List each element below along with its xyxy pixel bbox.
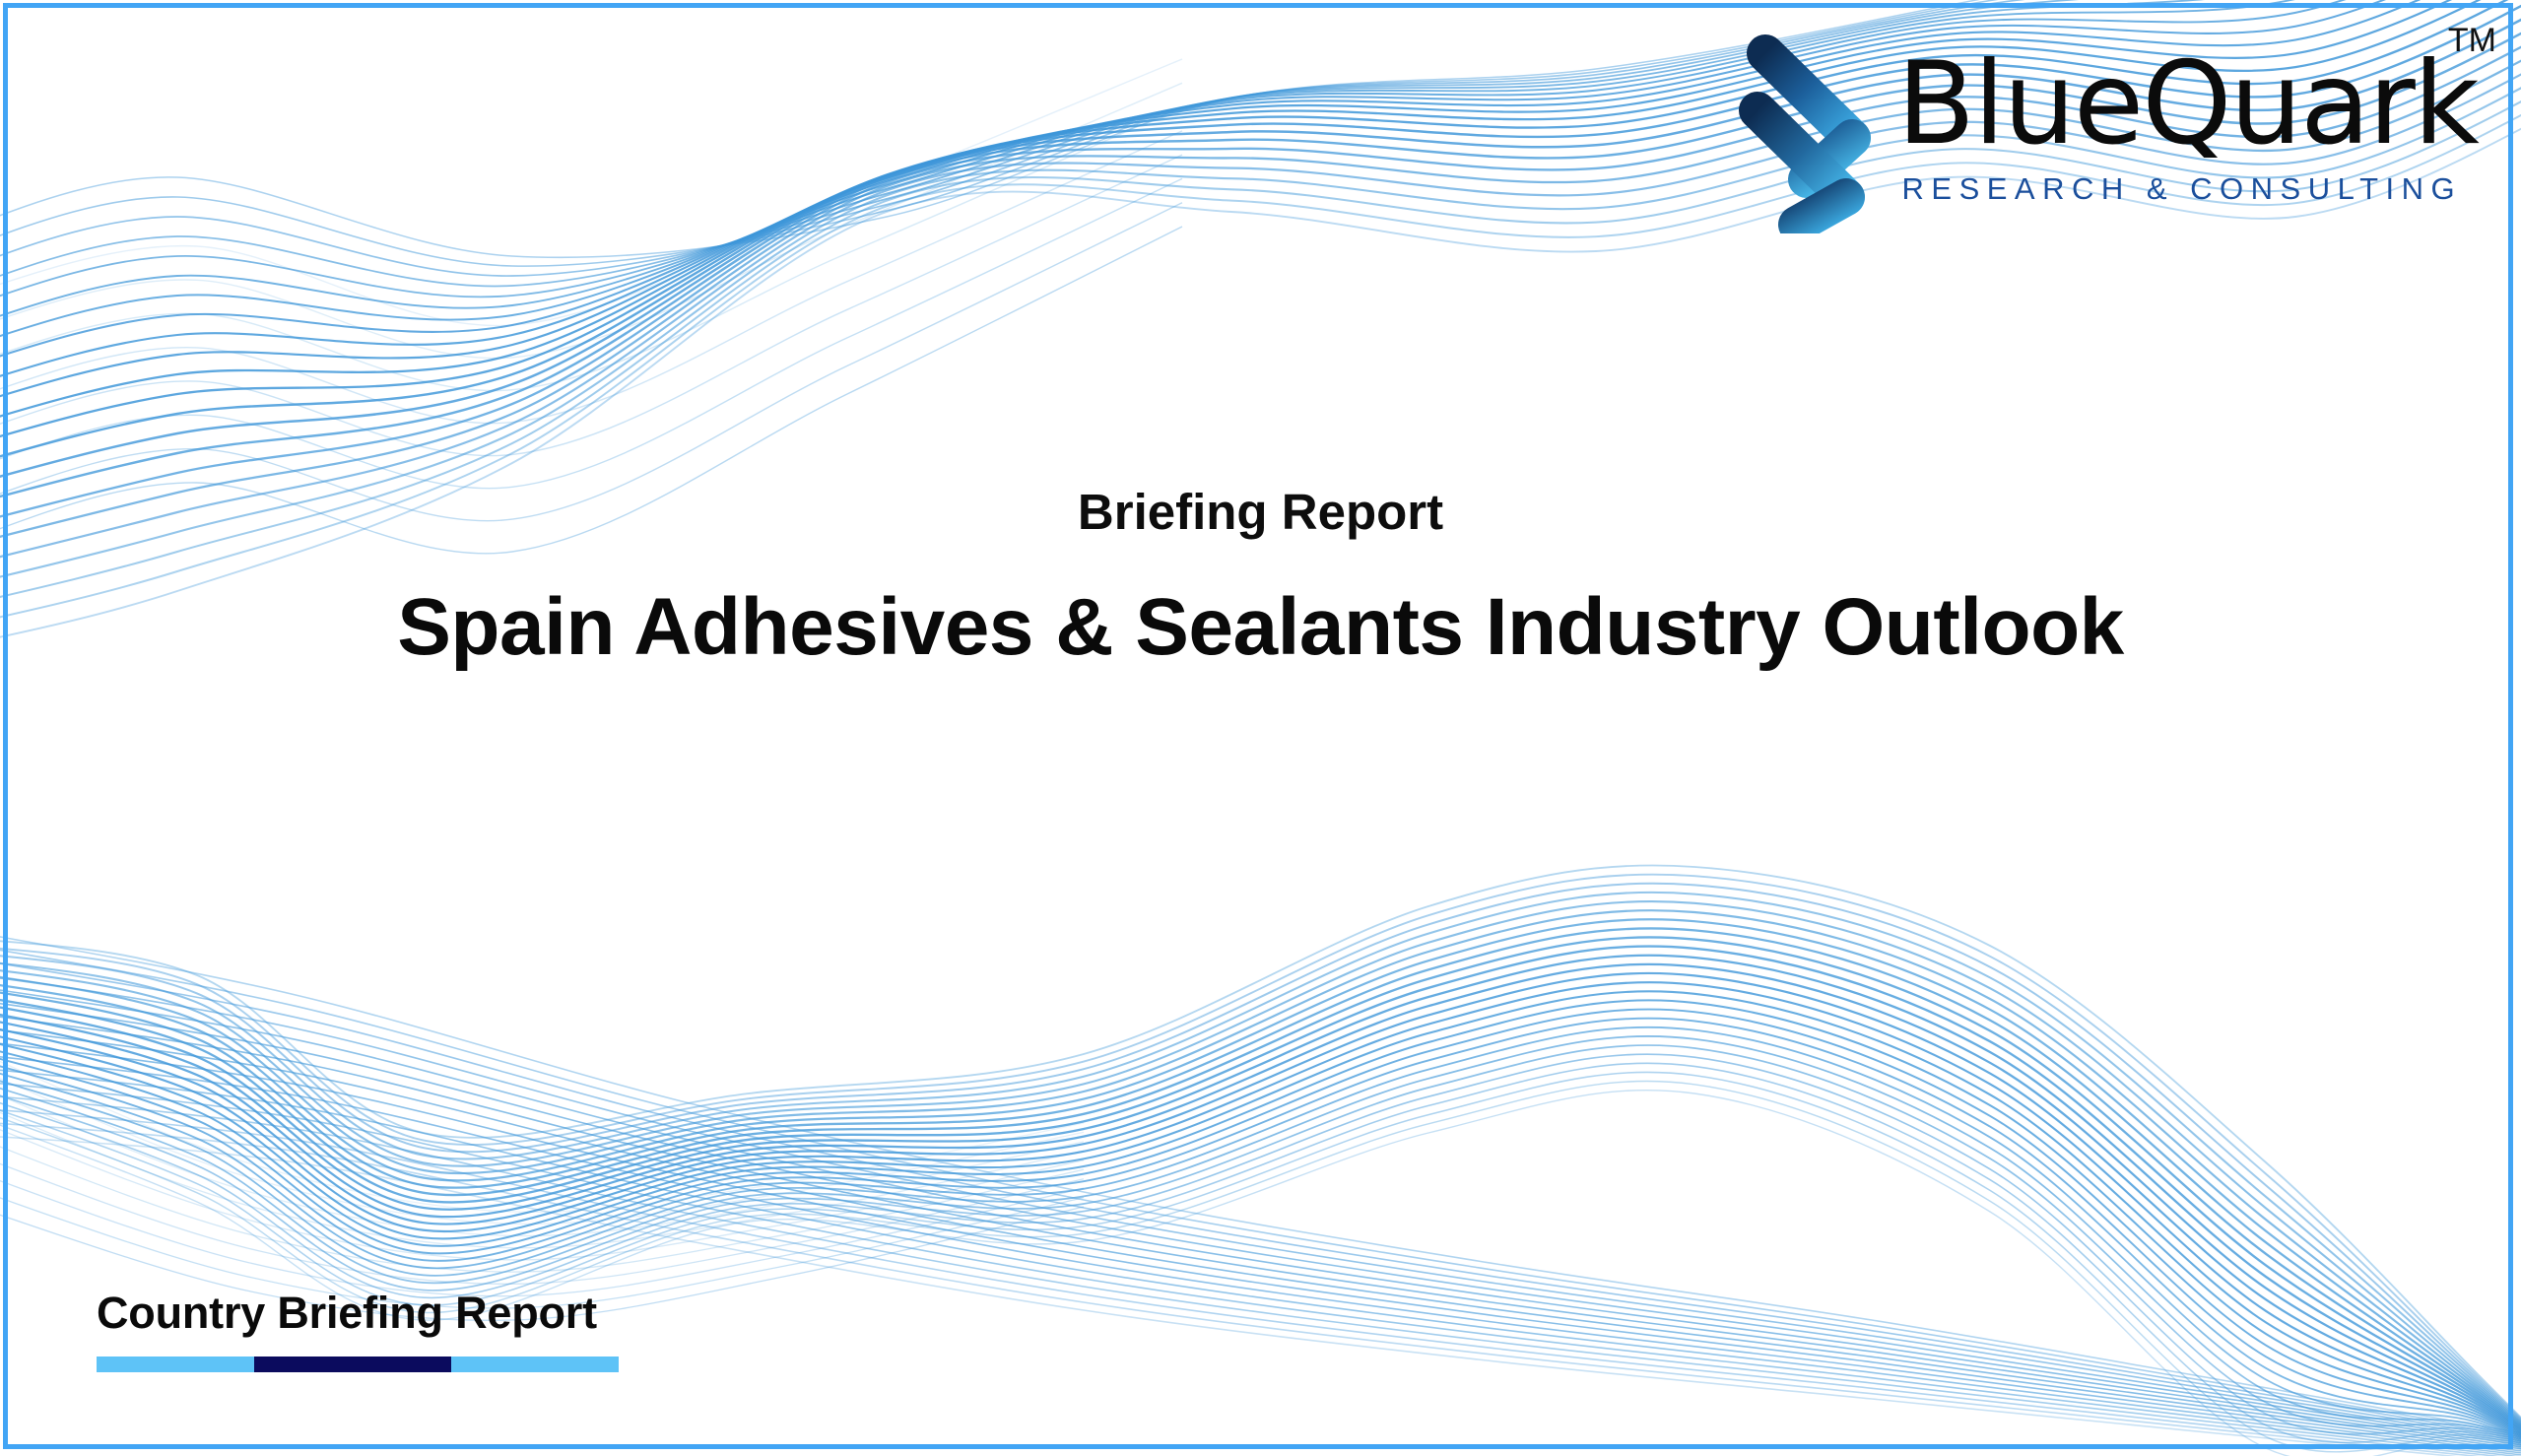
footer-block: Country Briefing Report bbox=[97, 1288, 619, 1372]
brand-wordmark-group: BlueQuark RESEARCH & CONSULTING bbox=[1897, 22, 2478, 207]
page-title: Spain Adhesives & Sealants Industry Outl… bbox=[0, 581, 2521, 674]
brand-wordmark: BlueQuark bbox=[1897, 47, 2478, 162]
report-cover-slide: TM bbox=[0, 0, 2521, 1456]
brand-tagline: RESEARCH & CONSULTING bbox=[1902, 171, 2478, 207]
bluequark-double-chevron-icon bbox=[1736, 32, 1884, 233]
footer-rule-segment-right bbox=[451, 1357, 619, 1372]
footer-rule bbox=[97, 1357, 619, 1372]
footer-label: Country Briefing Report bbox=[97, 1288, 619, 1339]
brand-logo: BlueQuark RESEARCH & CONSULTING bbox=[1736, 22, 2478, 233]
report-kicker: Briefing Report bbox=[0, 483, 2521, 541]
footer-rule-segment-left bbox=[97, 1357, 254, 1372]
footer-rule-segment-middle bbox=[254, 1357, 451, 1372]
